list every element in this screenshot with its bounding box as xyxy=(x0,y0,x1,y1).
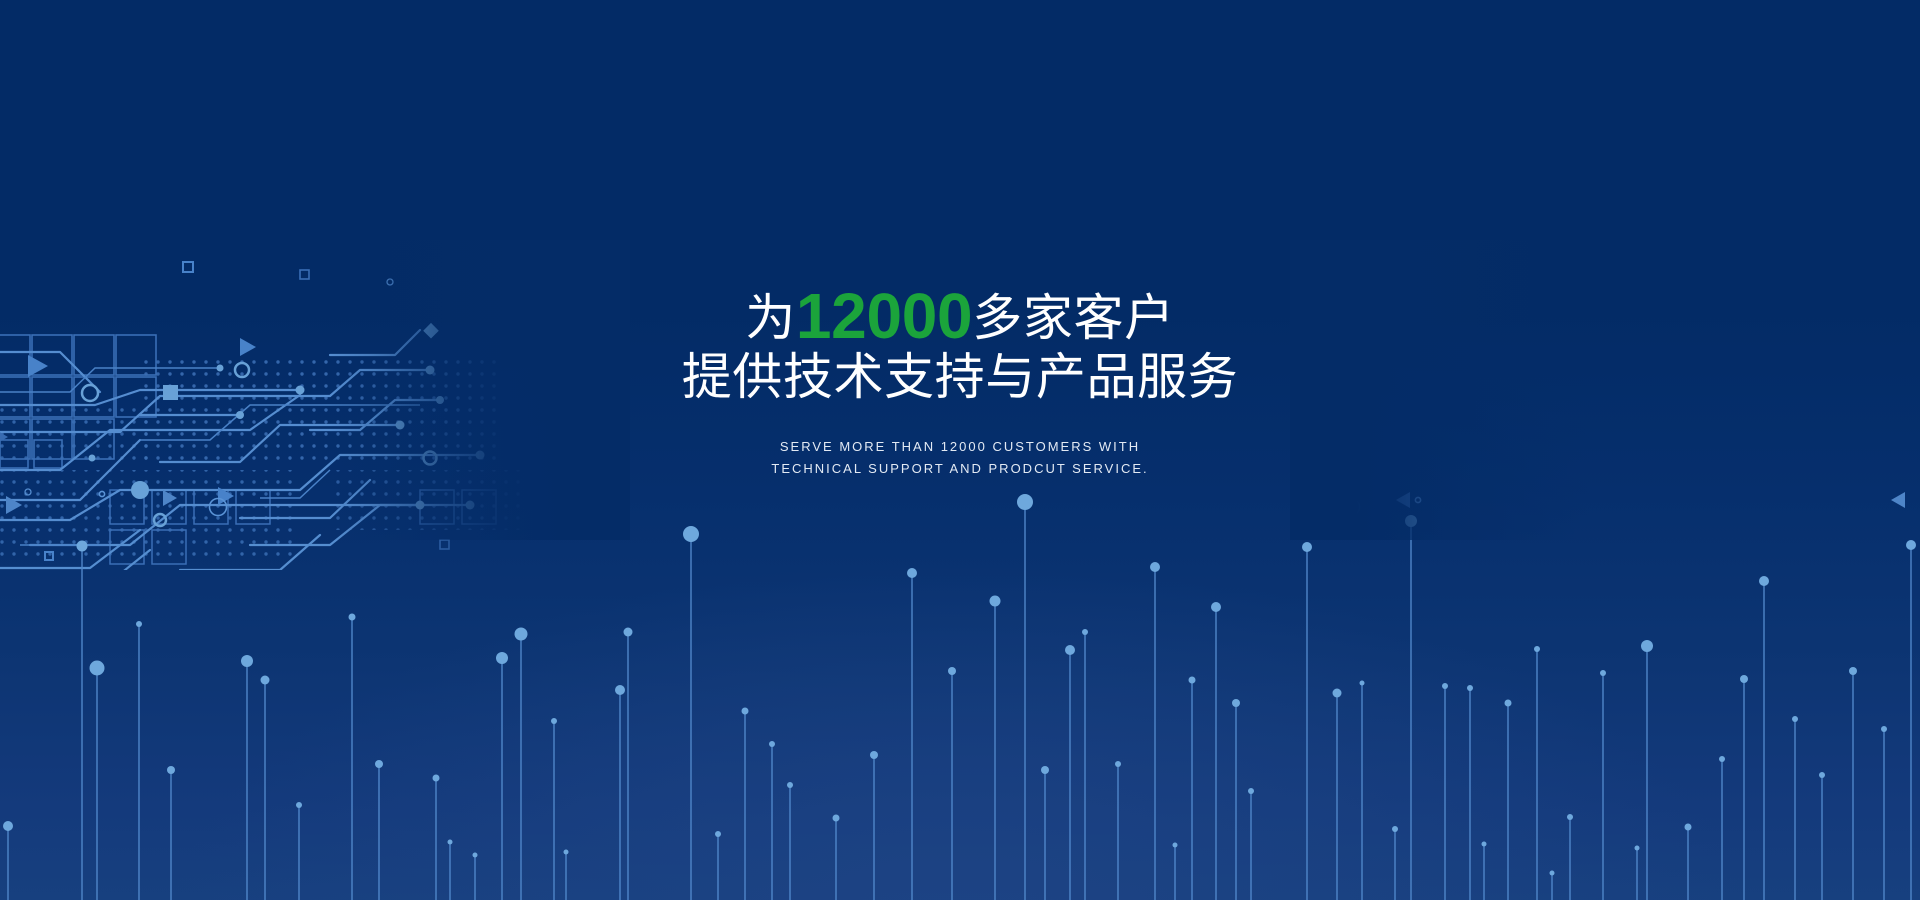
hero-banner: 为12000多家客户 提供技术支持与产品服务 SERVE MORE THAN 1… xyxy=(0,0,1920,900)
bottom-pin-decoration xyxy=(0,0,1920,900)
